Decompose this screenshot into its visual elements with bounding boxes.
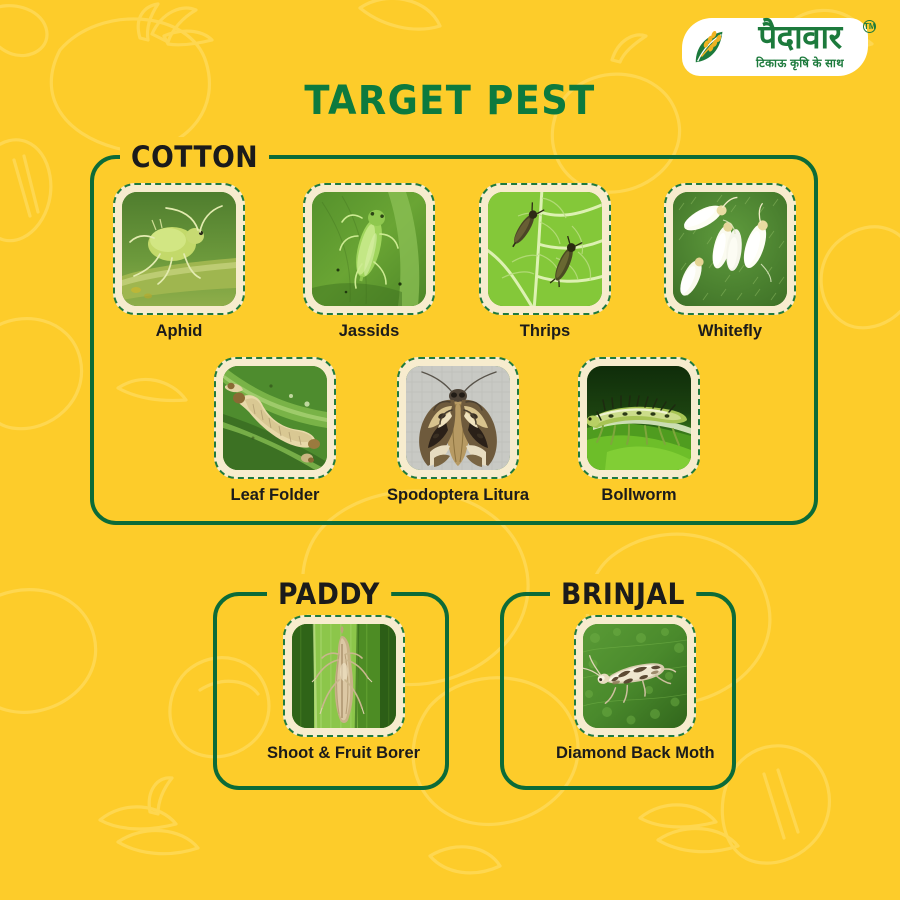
pest-label: Shoot & Fruit Borer — [267, 744, 420, 763]
pest-card-jassids[interactable]: Jassids — [303, 183, 435, 341]
pest-card-aphid[interactable]: Aphid — [113, 183, 245, 341]
pest-label: Whitefly — [698, 322, 762, 341]
pest-card-leaf-folder[interactable]: Leaf Folder — [214, 357, 336, 505]
pest-card-whitefly[interactable]: Whitefly — [664, 183, 796, 341]
pest-card-shoot-fruit-borer[interactable]: Shoot & Fruit Borer — [267, 615, 420, 763]
trademark-badge: TM — [863, 20, 876, 33]
logo-brand-name: पैदावार — [730, 22, 870, 55]
shoot-fruit-borer-photo — [292, 624, 396, 728]
pest-label: Jassids — [339, 322, 400, 341]
brand-logo: पैदावार टिकाऊ कृषि के साथ TM — [682, 14, 878, 80]
leaf-folder-photo — [223, 366, 327, 470]
pest-card-bollworm[interactable]: Bollworm — [578, 357, 700, 505]
diamond-back-moth-photo — [583, 624, 687, 728]
pest-label: Diamond Back Moth — [556, 744, 715, 763]
pest-label: Bollworm — [601, 486, 676, 505]
pest-card-diamond-back-moth[interactable]: Diamond Back Moth — [556, 615, 715, 763]
pest-frame — [664, 183, 796, 315]
logo-tagline: टिकाऊ कृषि के साथ — [730, 56, 870, 71]
pest-frame — [113, 183, 245, 315]
spodoptera-litura-photo — [406, 366, 510, 470]
pest-label: Aphid — [156, 322, 203, 341]
bollworm-photo — [587, 366, 691, 470]
pest-label: Spodoptera Litura — [387, 486, 529, 505]
jassids-photo — [312, 192, 426, 306]
pest-frame — [303, 183, 435, 315]
page-title: TARGET PEST — [36, 78, 864, 124]
pest-frame — [574, 615, 696, 737]
whitefly-photo — [673, 192, 787, 306]
crop-group-label-paddy: PADDY — [267, 574, 391, 614]
pest-label: Leaf Folder — [231, 486, 320, 505]
pest-frame — [214, 357, 336, 479]
pest-card-thrips[interactable]: Thrips — [479, 183, 611, 341]
crop-group-label-brinjal: BRINJAL — [550, 574, 696, 614]
pest-frame — [283, 615, 405, 737]
aphid-photo — [122, 192, 236, 306]
crop-group-label-cotton: COTTON — [120, 137, 269, 177]
thrips-photo — [488, 192, 602, 306]
pest-frame — [479, 183, 611, 315]
wheat-leaf-icon — [690, 26, 732, 68]
pest-card-spodoptera-litura[interactable]: Spodoptera Litura — [387, 357, 529, 505]
pest-frame — [578, 357, 700, 479]
pest-frame — [397, 357, 519, 479]
pest-label: Thrips — [520, 322, 570, 341]
